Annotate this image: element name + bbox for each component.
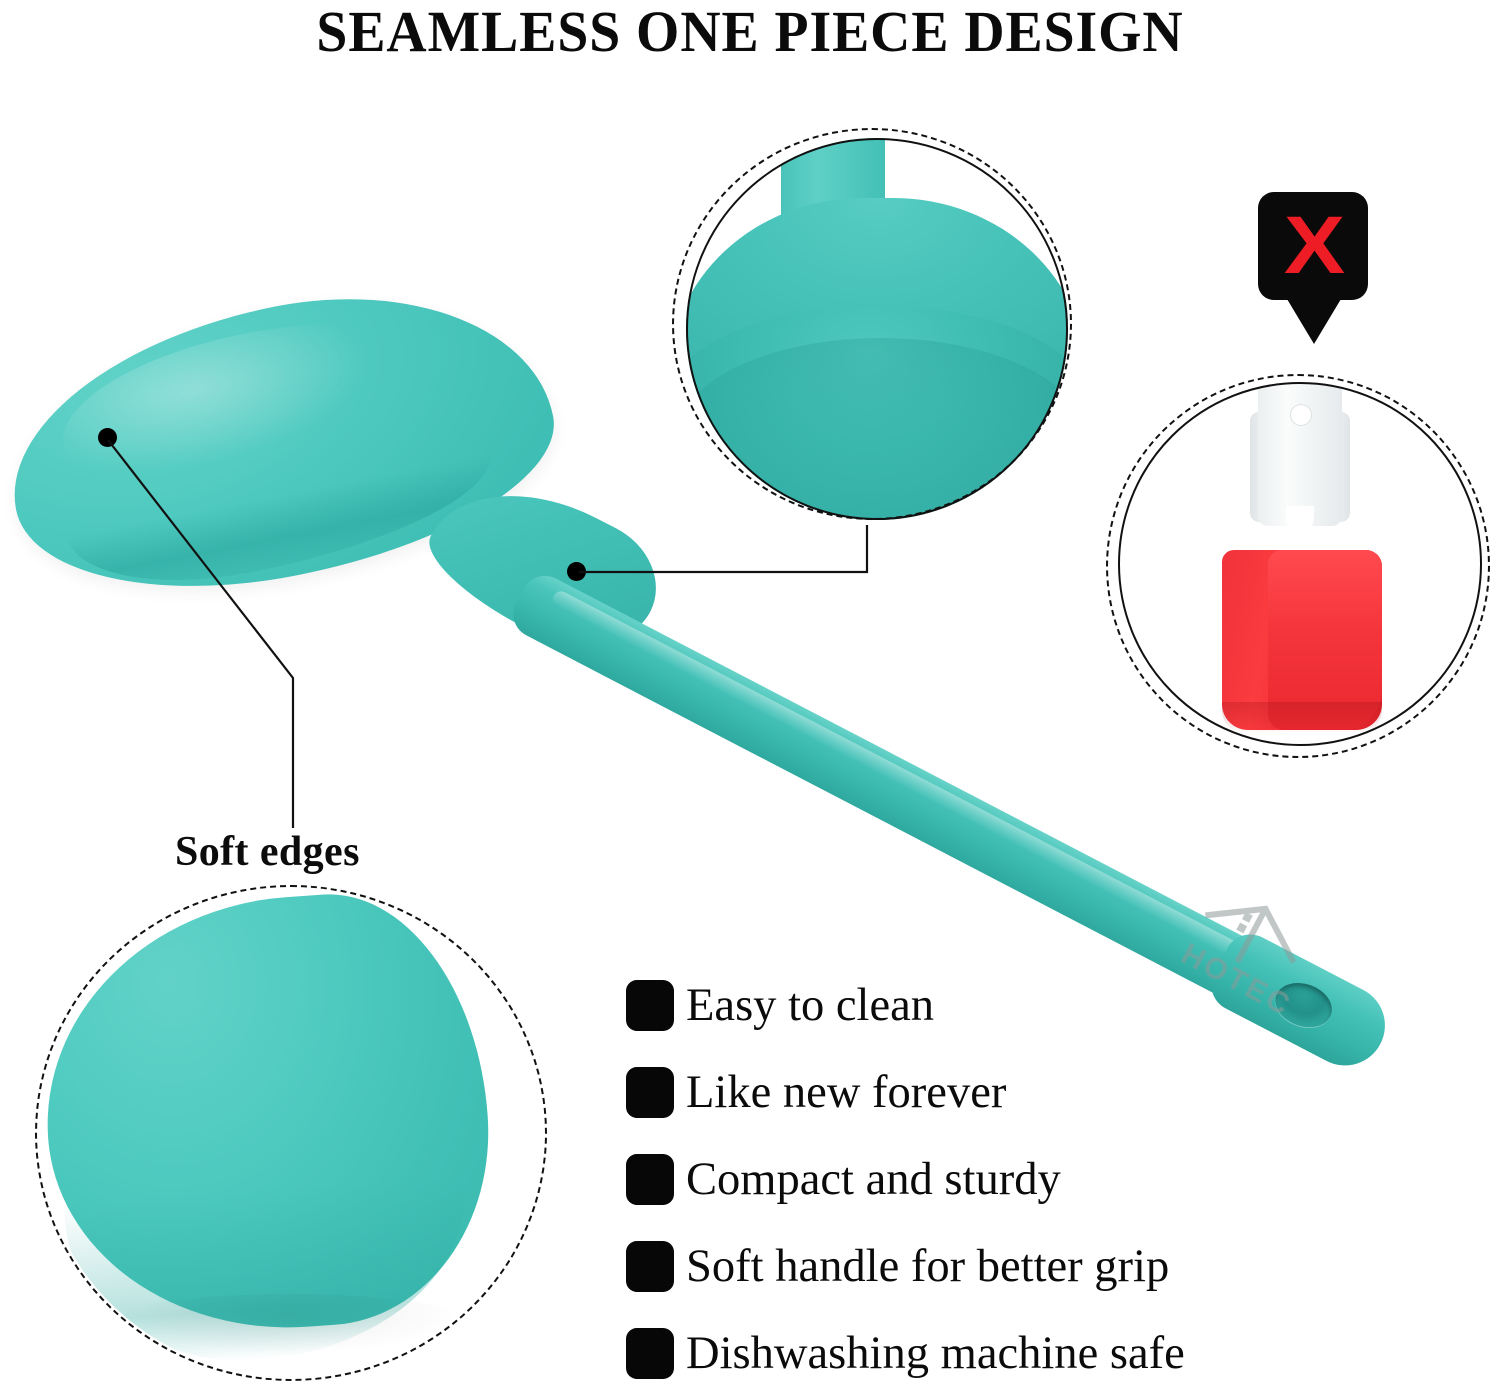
- feature-label: Soft handle for better grip: [686, 1241, 1169, 1292]
- x-mark: X: [1283, 205, 1342, 287]
- inset-seamless-joint: [672, 128, 1080, 528]
- inset-edge-dashed-ring: [35, 885, 547, 1381]
- inset-soft-edge: [35, 885, 555, 1385]
- feature-item: Like new forever: [626, 1049, 1406, 1136]
- bullet-square-icon: [626, 1328, 674, 1379]
- product-infographic: SEAMLESS ONE PIECE DESIGN HOTEC Soft ed: [0, 0, 1500, 1385]
- feature-item: Easy to clean: [626, 962, 1406, 1049]
- feature-item: Compact and sturdy: [626, 1136, 1406, 1223]
- inset-multi-piece-design: [1106, 374, 1498, 766]
- feature-list: Easy to clean Like new forever Compact a…: [626, 962, 1406, 1385]
- bullet-square-icon: [626, 1067, 674, 1118]
- feature-label: Compact and sturdy: [686, 1154, 1061, 1205]
- inset-joint-solid-ring: [686, 138, 1068, 520]
- bullet-square-icon: [626, 980, 674, 1031]
- feature-label: Dishwashing machine safe: [686, 1328, 1185, 1379]
- red-x-badge-icon: X: [1258, 192, 1368, 300]
- warning-badge: X: [1258, 192, 1378, 352]
- bullet-square-icon: [626, 1241, 674, 1292]
- feature-item: Dishwashing machine safe: [626, 1310, 1406, 1385]
- bullet-square-icon: [626, 1154, 674, 1205]
- feature-label: Like new forever: [686, 1067, 1006, 1118]
- feature-label: Easy to clean: [686, 980, 934, 1031]
- inset-bad-solid-ring: [1118, 382, 1482, 746]
- feature-item: Soft handle for better grip: [626, 1223, 1406, 1310]
- down-arrow-icon: [1284, 294, 1344, 344]
